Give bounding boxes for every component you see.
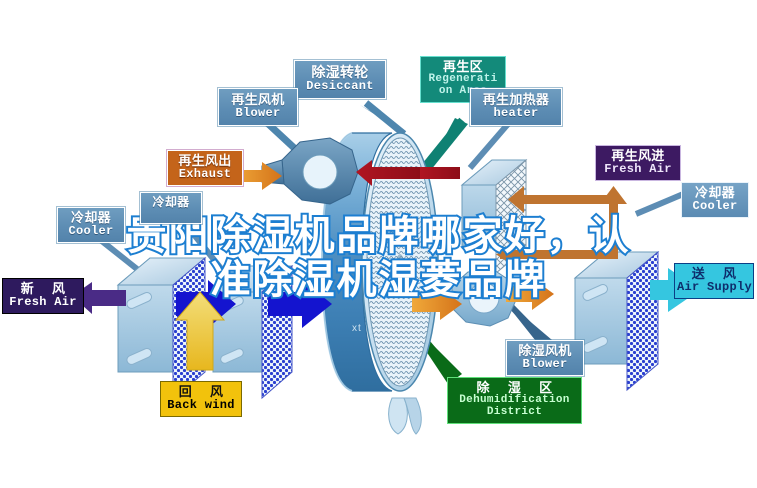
label-regen-blower-en: Blower xyxy=(221,107,295,120)
label-desiccant-en: Desiccant xyxy=(297,80,383,93)
label-cooler-left: 冷却器 Cooler xyxy=(57,207,125,243)
label-air-supply-cn: 送风 xyxy=(677,267,751,281)
label-back-wind-cn: 回风 xyxy=(163,385,239,399)
label-cooler-left-en: Cooler xyxy=(60,225,122,238)
cooler-housing-right xyxy=(575,252,658,390)
label-fresh-air-regen-cn: 再生风进 xyxy=(598,149,678,163)
regeneration-fan xyxy=(262,138,358,204)
label-dehum-district: 除湿区 Dehumidification District xyxy=(447,377,582,424)
label-regen-heater-en: heater xyxy=(473,107,559,120)
label-back-wind: 回风 Back wind xyxy=(160,381,242,417)
label-back-wind-en: Back wind xyxy=(163,399,239,412)
watermark-small-mark: xt xyxy=(352,323,362,334)
label-cooler-right-en: Cooler xyxy=(684,200,746,213)
label-cooler-right: 冷却器 Cooler xyxy=(681,182,749,218)
label-dehum-district-cn: 除湿区 xyxy=(450,381,579,395)
label-fresh-air-left-cn: 新风 xyxy=(5,282,81,296)
cooler-housing-mid xyxy=(213,266,292,398)
label-dehum-blower-en: Blower xyxy=(509,358,581,371)
label-regen-heater-cn: 再生加热器 xyxy=(473,93,559,107)
label-exhaust-en: Exhaust xyxy=(170,168,240,181)
label-cooler-left-cn: 冷却器 xyxy=(60,211,122,225)
label-dehum-blower: 除湿风机 Blower xyxy=(506,340,584,376)
label-regen-blower: 再生风机 Blower xyxy=(218,88,298,126)
label-desiccant-cn: 除湿转轮 xyxy=(297,65,383,80)
label-cooler-left-2: 冷却器 xyxy=(140,192,202,224)
label-fresh-air-left: 新风 Fresh Air xyxy=(2,278,84,314)
label-dehum-blower-cn: 除湿风机 xyxy=(509,344,581,358)
label-fresh-air-regen: 再生风进 Fresh Air xyxy=(595,145,681,181)
diagram-canvas: 贵阳除湿机品牌哪家好，认 准除湿机湿菱品牌 xt 除湿转轮 Desiccant … xyxy=(0,0,757,488)
label-regen-blower-cn: 再生风机 xyxy=(221,93,295,107)
label-regen-area-cn: 再生区 xyxy=(423,60,503,74)
label-exhaust: 再生风出 Exhaust xyxy=(167,150,243,186)
label-exhaust-cn: 再生风出 xyxy=(170,154,240,168)
label-dehum-district-en2: District xyxy=(450,407,579,419)
label-air-supply: 送风 Air Supply xyxy=(674,263,754,299)
label-cooler-left-2-cn: 冷却器 xyxy=(143,196,199,209)
label-desiccant: 除湿转轮 Desiccant xyxy=(294,60,386,99)
label-fresh-air-regen-en: Fresh Air xyxy=(598,163,678,176)
label-regen-heater: 再生加热器 heater xyxy=(470,88,562,126)
label-air-supply-en: Air Supply xyxy=(677,281,751,294)
label-fresh-air-left-en: Fresh Air xyxy=(5,296,81,309)
label-cooler-right-cn: 冷却器 xyxy=(684,186,746,200)
